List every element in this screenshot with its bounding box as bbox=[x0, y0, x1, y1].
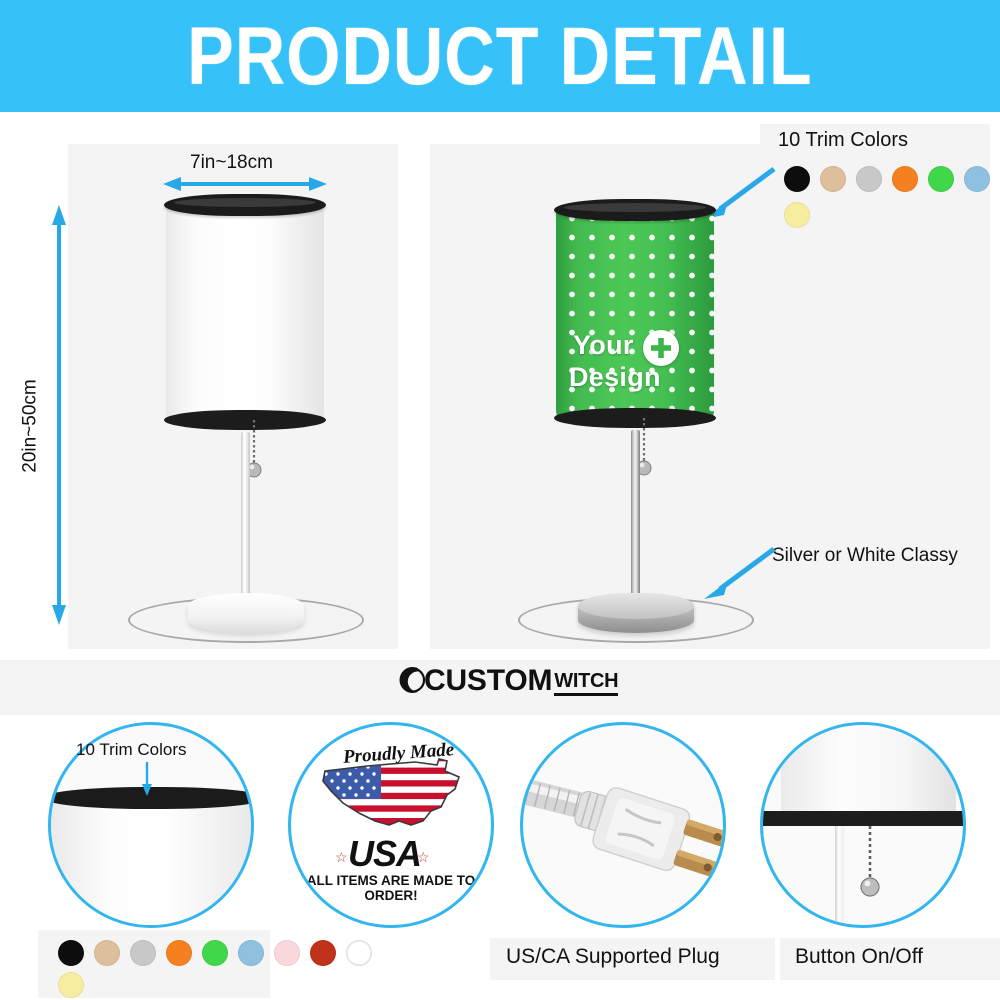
lamp-green-base bbox=[578, 593, 694, 633]
swatch-black-2[interactable] bbox=[58, 940, 84, 966]
swatch-green-2[interactable] bbox=[202, 940, 228, 966]
swatch-orange-2[interactable] bbox=[166, 940, 192, 966]
logo-underline bbox=[554, 693, 618, 696]
button-circle-shade bbox=[781, 725, 956, 813]
swatch-white-2[interactable] bbox=[346, 940, 372, 966]
lamp-green-trim-top-inner bbox=[564, 203, 706, 212]
feature-circle-button bbox=[760, 722, 966, 928]
trim-colors-circle-label: 10 Trim Colors bbox=[76, 740, 187, 760]
lamp-green: Your Design bbox=[0, 0, 1000, 700]
usa-flag-map-icon bbox=[319, 755, 469, 837]
button-circle-black-rim bbox=[763, 811, 963, 826]
button-circle-stem bbox=[835, 826, 844, 928]
swatch-yellow-2[interactable] bbox=[58, 972, 84, 998]
usa-star-right: ☆ bbox=[417, 849, 430, 866]
arrow-down-to-trim-icon bbox=[140, 762, 154, 798]
usa-badge-country: USA bbox=[348, 833, 421, 875]
swatch-gray-2[interactable] bbox=[130, 940, 156, 966]
logo-secondary-text: WITCH bbox=[554, 671, 618, 691]
brand-logo: CUSTOM WITCH bbox=[395, 664, 618, 696]
logo-c-mark-icon bbox=[395, 664, 427, 696]
feature-circle-plug bbox=[520, 722, 726, 928]
usa-star-left: ☆ bbox=[335, 849, 348, 866]
us-plug-icon bbox=[523, 725, 726, 928]
button-label: Button On/Off bbox=[795, 945, 923, 969]
logo-secondary-wrap: WITCH bbox=[554, 671, 618, 696]
design-text-line2: Design bbox=[569, 362, 661, 393]
trim-color-swatches-bottom-row2[interactable] bbox=[58, 972, 84, 998]
trim-circle-shade-body bbox=[48, 797, 254, 928]
swatch-light-blue-2[interactable] bbox=[238, 940, 264, 966]
lamp-green-base-top bbox=[578, 593, 694, 619]
base-finish-label: Silver or White Classy bbox=[772, 545, 958, 567]
logo-primary-text: CUSTOM bbox=[424, 666, 552, 696]
arrow-to-base-icon bbox=[700, 545, 778, 603]
trim-color-swatches-bottom-row1[interactable] bbox=[58, 940, 372, 966]
plus-icon bbox=[643, 330, 679, 366]
swatch-brick-red-2[interactable] bbox=[310, 940, 336, 966]
swatch-tan-2[interactable] bbox=[94, 940, 120, 966]
design-text-line1: Your bbox=[573, 330, 634, 361]
product-detail-infographic: PRODUCT DETAIL 10 Trim Colors 7in~18cm 2… bbox=[0, 0, 1000, 1000]
add-design-badge[interactable] bbox=[643, 330, 679, 366]
feature-circle-made-in-usa: Proudly Made in the bbox=[288, 722, 494, 928]
button-circle-pull-chain[interactable] bbox=[859, 826, 881, 900]
usa-badge-tagline: ALL ITEMS ARE MADE TO ORDER! bbox=[291, 873, 491, 903]
lamp-green-stem bbox=[631, 430, 640, 600]
plug-label: US/CA Supported Plug bbox=[506, 945, 720, 969]
swatch-pink-2[interactable] bbox=[274, 940, 300, 966]
